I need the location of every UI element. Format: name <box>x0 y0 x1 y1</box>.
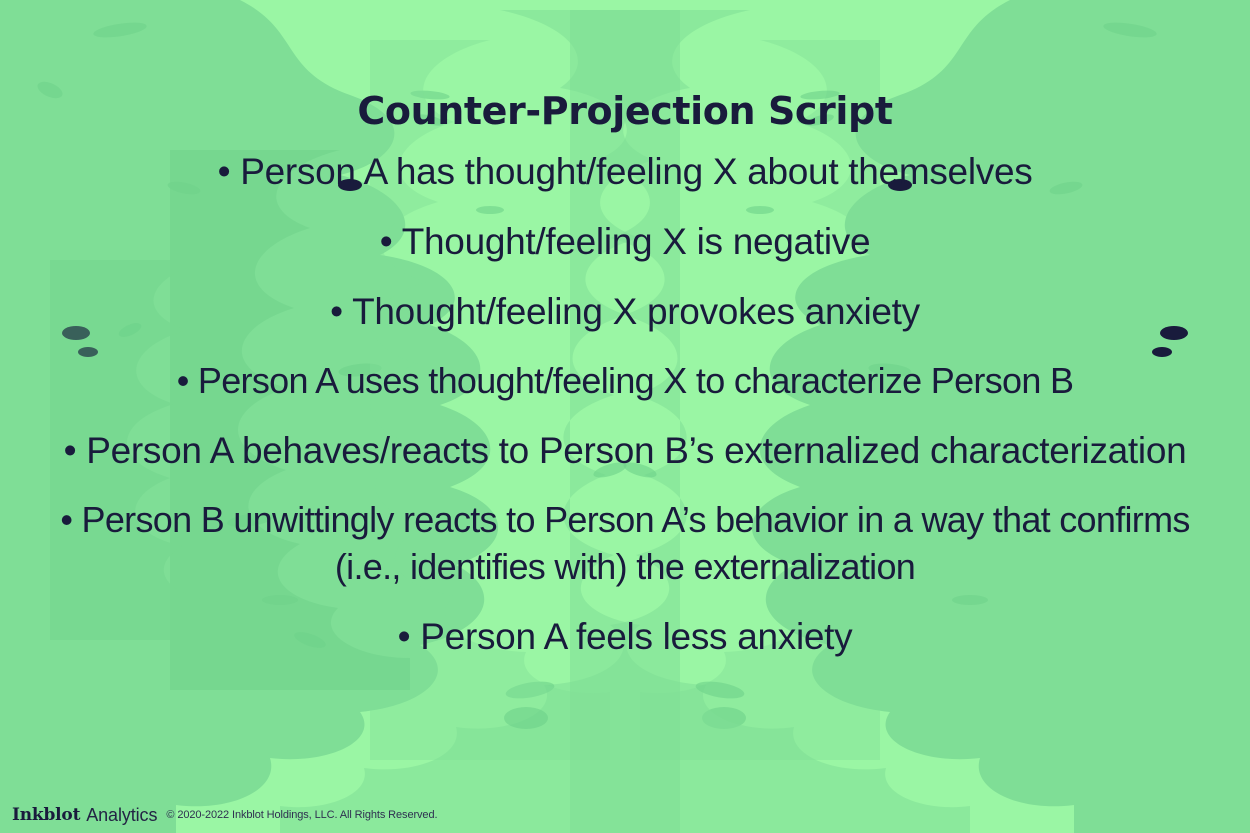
list-item-label: Person A has thought/feeling X about the… <box>240 151 1032 192</box>
bullet-dot-icon: • <box>60 499 81 540</box>
page-title: Counter-Projection Script <box>38 92 1212 130</box>
list-item-label: Person A uses thought/feeling X to chara… <box>198 360 1073 401</box>
list-item-label: Thought/feeling X provokes anxiety <box>352 291 920 332</box>
list-item: • Person A behaves/reacts to Person B’s … <box>38 427 1212 475</box>
list-item: • Person A has thought/feeling X about t… <box>38 148 1212 196</box>
slide-footer: Inkblot Analytics © 2020-2022 Inkblot Ho… <box>0 797 1250 833</box>
list-item-label: Thought/feeling X is negative <box>402 221 871 262</box>
bullet-dot-icon: • <box>330 291 352 332</box>
slide-content: Counter-Projection Script • Person A has… <box>0 0 1250 833</box>
copyright-notice: © 2020-2022 Inkblot Holdings, LLC. All R… <box>166 809 437 821</box>
bullet-dot-icon: • <box>177 360 198 401</box>
bullet-list: • Person A has thought/feeling X about t… <box>38 148 1212 661</box>
brand-name-light: Analytics <box>86 805 157 826</box>
list-item-label: Person A behaves/reacts to Person B’s ex… <box>86 430 1186 471</box>
list-item: • Person A feels less anxiety <box>38 613 1212 661</box>
list-item: • Person B unwittingly reacts to Person … <box>38 497 1212 591</box>
list-item-label: Person A feels less anxiety <box>420 616 852 657</box>
slide-canvas: Counter-Projection Script • Person A has… <box>0 0 1250 833</box>
list-item: • Thought/feeling X provokes anxiety <box>38 288 1212 336</box>
bullet-dot-icon: • <box>64 430 87 471</box>
list-item: • Thought/feeling X is negative <box>38 218 1212 266</box>
brand-name-bold: Inkblot <box>12 805 80 825</box>
bullet-dot-icon: • <box>398 616 421 657</box>
list-item-label: Person B unwittingly reacts to Person A’… <box>82 499 1190 587</box>
list-item: • Person A uses thought/feeling X to cha… <box>38 358 1212 405</box>
bullet-dot-icon: • <box>218 151 241 192</box>
bullet-dot-icon: • <box>380 221 402 262</box>
